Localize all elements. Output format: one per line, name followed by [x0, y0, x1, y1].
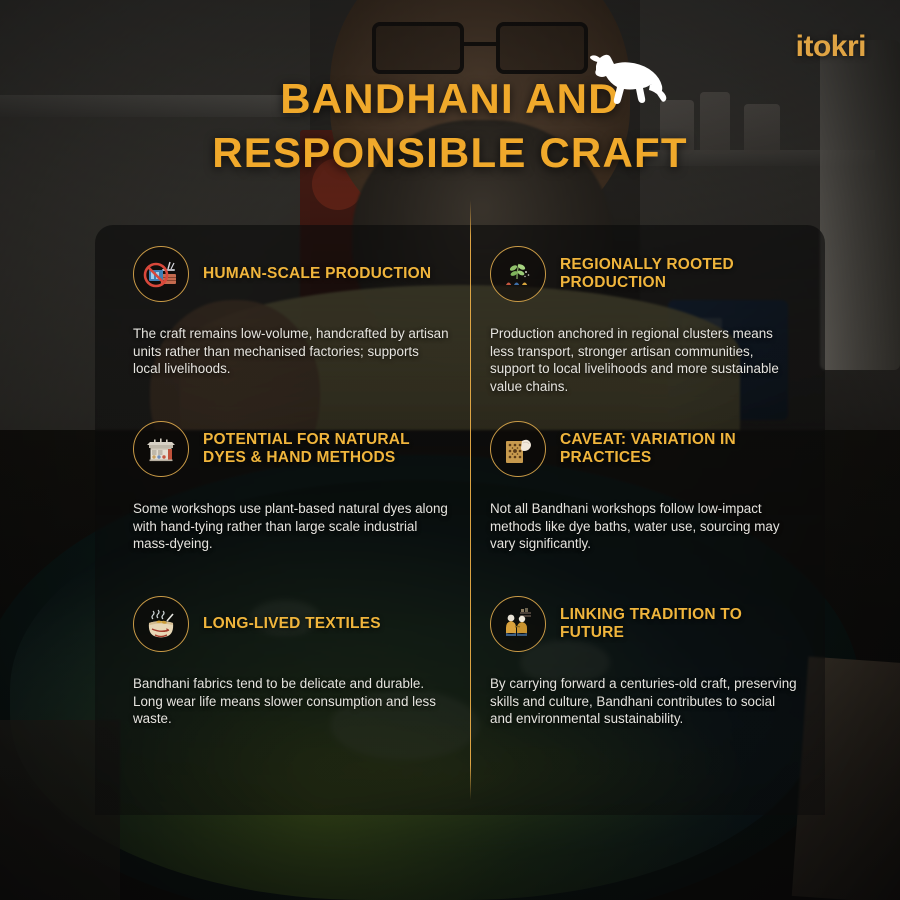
feature-body: By carrying forward a centuries-old craf… — [490, 675, 797, 728]
feature-title: CAVEAT: VARIATION IN PRACTICES — [560, 431, 795, 468]
hand-holding-bandhani-fabric-icon — [490, 421, 546, 477]
no-factory-icon — [133, 246, 189, 302]
title-line-2: RESPONSIBLE CRAFT — [0, 126, 900, 180]
two-artisans-icon — [490, 596, 546, 652]
feature-block-long-lived-textiles: LONG-LIVED TEXTILES Bandhani fabrics ten… — [105, 593, 460, 783]
feature-block-regionally-rooted-production: REGIONALLY ROOTED PRODUCTION Production … — [460, 243, 815, 418]
feature-block-potential-for-natural-dyes: POTENTIAL FOR NATURAL DYES & HAND METHOD… — [105, 418, 460, 593]
feature-title: LINKING TRADITION TO FUTURE — [560, 606, 795, 643]
plant-dye-powders-icon — [490, 246, 546, 302]
feature-grid: HUMAN-SCALE PRODUCTION The craft remains… — [95, 225, 825, 815]
steaming-dye-pot-icon — [133, 596, 189, 652]
cow-silhouette-icon — [578, 50, 670, 112]
feature-block-human-scale-production: HUMAN-SCALE PRODUCTION The craft remains… — [105, 243, 460, 418]
feature-title: POTENTIAL FOR NATURAL DYES & HAND METHOD… — [203, 431, 438, 468]
header: BANDHANI AND RESPONSIBLE CRAFT itokri — [0, 0, 900, 225]
feature-body: Some workshops use plant-based natural d… — [133, 500, 450, 553]
feature-body: The craft remains low-volume, handcrafte… — [133, 325, 450, 378]
feature-title: LONG-LIVED TEXTILES — [203, 615, 381, 634]
feature-body: Bandhani fabrics tend to be delicate and… — [133, 675, 450, 728]
feature-title: HUMAN-SCALE PRODUCTION — [203, 265, 431, 284]
feature-block-linking-tradition-to-future: LINKING TRADITION TO FUTURE By carrying … — [460, 593, 815, 783]
title-line-1: BANDHANI AND — [0, 72, 900, 126]
brand-logo[interactable]: itokri — [796, 30, 866, 64]
feature-title: REGIONALLY ROOTED PRODUCTION — [560, 256, 795, 293]
page-title: BANDHANI AND RESPONSIBLE CRAFT — [0, 72, 900, 180]
feature-body: Production anchored in regional clusters… — [490, 325, 797, 395]
content-panel: HUMAN-SCALE PRODUCTION The craft remains… — [95, 225, 825, 815]
feature-body: Not all Bandhani workshops follow low-im… — [490, 500, 797, 553]
feature-block-caveat-variation-in-practices: CAVEAT: VARIATION IN PRACTICES Not all B… — [460, 418, 815, 593]
workshop-building-icon — [133, 421, 189, 477]
